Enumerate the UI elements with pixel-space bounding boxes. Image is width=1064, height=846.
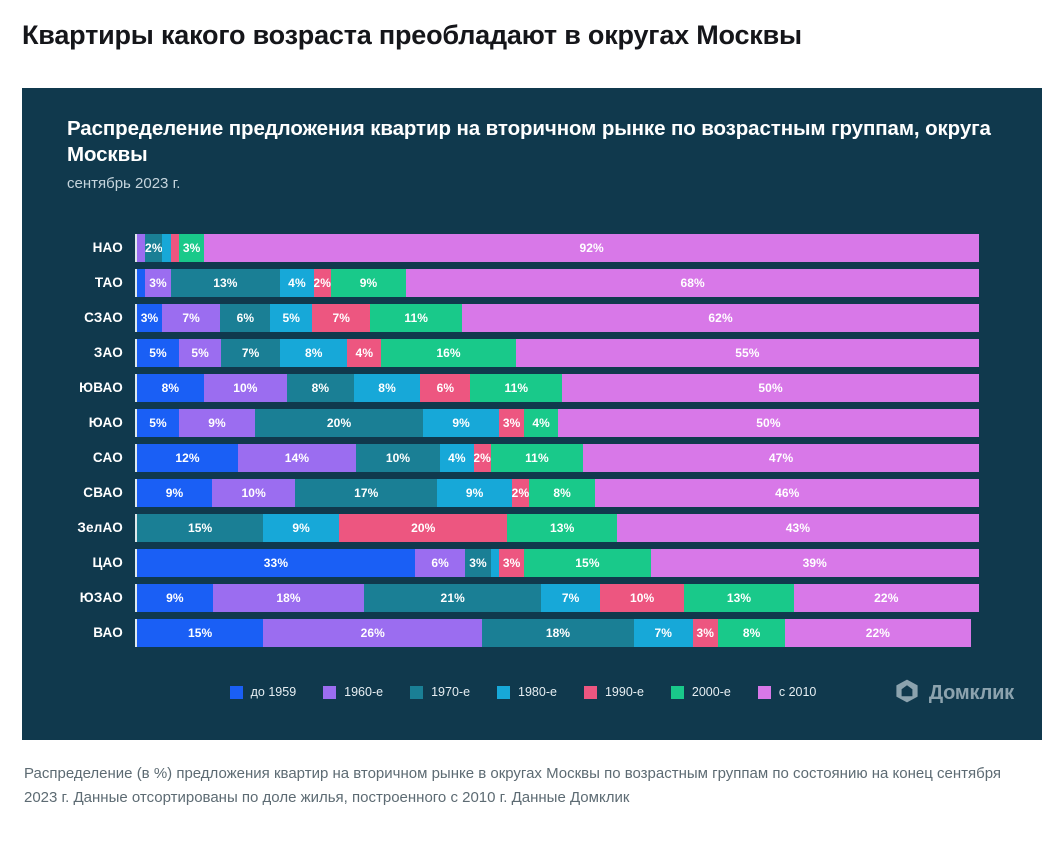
legend-swatch-icon: [497, 686, 510, 699]
bar-segment: 5%: [137, 409, 179, 437]
bar-segment: 3%: [179, 234, 204, 262]
bar-segment: 2%: [512, 479, 529, 507]
bar-segment: 9%: [263, 514, 339, 542]
bar-segment: 18%: [213, 584, 365, 612]
stacked-bar-plot: НАО2%3%92%ТАО3%13%4%2%9%68%СЗАО3%7%6%5%7…: [67, 230, 979, 650]
page-title: Квартиры какого возраста преобладают в о…: [0, 0, 1064, 51]
bar-segment: 7%: [221, 339, 280, 367]
infographic-page: Квартиры какого возраста преобладают в о…: [0, 0, 1064, 846]
bar-segment: 14%: [238, 444, 356, 472]
legend-swatch-icon: [758, 686, 771, 699]
bar-segment: 4%: [280, 269, 314, 297]
legend-swatch-icon: [323, 686, 336, 699]
bar-segment: 47%: [583, 444, 979, 472]
bar-segment: 8%: [287, 374, 354, 402]
bar-segment: 15%: [137, 619, 263, 647]
bar-row-label: НАО: [67, 240, 135, 255]
bar-row: ЗелАО15%9%20%13%43%: [67, 510, 979, 545]
chart-panel: Распределение предложения квартир на вто…: [22, 88, 1042, 740]
bar-row: ЦАО33%6%3%3%15%39%: [67, 545, 979, 580]
bar-segment: 2%: [145, 234, 162, 262]
bar-segment: 11%: [370, 304, 462, 332]
stacked-bar: 15%9%20%13%43%: [135, 514, 979, 542]
bar-segment: 4%: [347, 339, 381, 367]
bar-row-label: ЗелАО: [67, 520, 135, 535]
bar-row-label: ЗАО: [67, 345, 135, 360]
bar-segment: 55%: [516, 339, 979, 367]
bar-segment: 8%: [280, 339, 347, 367]
legend-item[interactable]: до 1959: [230, 685, 297, 699]
stacked-bar: 5%9%20%9%3%4%50%: [135, 409, 979, 437]
bar-segment: 16%: [381, 339, 516, 367]
bar-row-label: СВАО: [67, 485, 135, 500]
bar-row-label: ТАО: [67, 275, 135, 290]
bar-row: ЮЗАО9%18%21%7%10%13%22%: [67, 580, 979, 615]
bar-segment: 9%: [437, 479, 512, 507]
bar-row-label: ВАО: [67, 625, 135, 640]
legend-item[interactable]: 1970-е: [410, 685, 470, 699]
stacked-bar: 8%10%8%8%6%11%50%: [135, 374, 979, 402]
stacked-bar: 12%14%10%4%2%11%47%: [135, 444, 979, 472]
bar-segment: 13%: [171, 269, 280, 297]
legend-label: 2000-е: [692, 685, 731, 699]
bar-segment: 33%: [137, 549, 415, 577]
bar-segment: 3%: [137, 304, 162, 332]
brand-watermark: Домклик: [894, 678, 1014, 709]
bar-row: ЮВАО8%10%8%8%6%11%50%: [67, 370, 979, 405]
bar-row-label: ЮВАО: [67, 380, 135, 395]
legend-item[interactable]: с 2010: [758, 685, 817, 699]
bar-segment: 3%: [499, 409, 524, 437]
bar-segment: 6%: [220, 304, 270, 332]
bar-row: СЗАО3%7%6%5%7%11%62%: [67, 300, 979, 335]
bar-segment: 68%: [406, 269, 979, 297]
bar-row-label: СЗАО: [67, 310, 135, 325]
legend-label: 1990-е: [605, 685, 644, 699]
bar-segment: 2%: [474, 444, 491, 472]
stacked-bar: 2%3%92%: [135, 234, 979, 262]
bar-segment: [171, 234, 179, 262]
bar-segment: 92%: [204, 234, 979, 262]
legend-swatch-icon: [671, 686, 684, 699]
bar-segment: 7%: [312, 304, 370, 332]
bar-segment: 22%: [785, 619, 970, 647]
bar-segment: 4%: [524, 409, 558, 437]
bar-row-label: ЮАО: [67, 415, 135, 430]
bar-segment: 26%: [263, 619, 482, 647]
legend-item[interactable]: 1960-е: [323, 685, 383, 699]
bar-segment: 10%: [356, 444, 440, 472]
bar-segment: 9%: [423, 409, 499, 437]
bar-segment: 20%: [255, 409, 423, 437]
domclick-house-logo-icon: [894, 678, 920, 709]
bar-segment: 8%: [718, 619, 785, 647]
bar-segment: 9%: [137, 584, 213, 612]
bar-segment: 7%: [541, 584, 600, 612]
bar-segment: 8%: [354, 374, 421, 402]
bar-segment: 11%: [470, 374, 562, 402]
legend-label: 1970-е: [431, 685, 470, 699]
legend-swatch-icon: [410, 686, 423, 699]
bar-segment: 46%: [595, 479, 979, 507]
bar-segment: 18%: [482, 619, 634, 647]
bar-segment: 12%: [137, 444, 238, 472]
legend-label: до 1959: [251, 685, 297, 699]
bar-segment: 8%: [137, 374, 204, 402]
stacked-bar: 3%13%4%2%9%68%: [135, 269, 979, 297]
legend-label: с 2010: [779, 685, 817, 699]
bar-segment: 5%: [179, 339, 221, 367]
legend-label: 1960-е: [344, 685, 383, 699]
bar-segment: 39%: [651, 549, 979, 577]
bar-segment: 6%: [420, 374, 470, 402]
legend-label: 1980-е: [518, 685, 557, 699]
bar-row: САО12%14%10%4%2%11%47%: [67, 440, 979, 475]
bar-segment: 3%: [145, 269, 170, 297]
bar-segment: 2%: [314, 269, 331, 297]
bar-segment: 6%: [415, 549, 466, 577]
bar-segment: 5%: [137, 339, 179, 367]
bar-segment: 7%: [634, 619, 693, 647]
bar-segment: 20%: [339, 514, 507, 542]
bar-segment: [162, 234, 170, 262]
bar-row: ЮАО5%9%20%9%3%4%50%: [67, 405, 979, 440]
bar-segment: 43%: [617, 514, 979, 542]
bar-segment: 62%: [462, 304, 979, 332]
stacked-bar: 9%10%17%9%2%8%46%: [135, 479, 979, 507]
bar-segment: 50%: [562, 374, 979, 402]
chart-title: Распределение предложения квартир на вто…: [22, 88, 1042, 168]
bar-row: СВАО9%10%17%9%2%8%46%: [67, 475, 979, 510]
legend-item[interactable]: 1990-е: [584, 685, 644, 699]
bar-segment: 17%: [295, 479, 437, 507]
legend-swatch-icon: [584, 686, 597, 699]
bar-segment: 9%: [331, 269, 407, 297]
bar-segment: 10%: [204, 374, 287, 402]
bar-row-label: САО: [67, 450, 135, 465]
bar-segment: 21%: [364, 584, 541, 612]
bar-segment: 50%: [558, 409, 979, 437]
bar-row: ВАО15%26%18%7%3%8%22%: [67, 615, 979, 650]
bar-segment: [137, 269, 145, 297]
bar-segment: 11%: [491, 444, 584, 472]
bar-row: ТАО3%13%4%2%9%68%: [67, 265, 979, 300]
bar-row-label: ЦАО: [67, 555, 135, 570]
bar-segment: 5%: [270, 304, 312, 332]
bar-segment: 8%: [529, 479, 596, 507]
bar-segment: 10%: [212, 479, 295, 507]
legend-item[interactable]: 2000-е: [671, 685, 731, 699]
stacked-bar: 9%18%21%7%10%13%22%: [135, 584, 979, 612]
bar-segment: 13%: [684, 584, 793, 612]
legend-swatch-icon: [230, 686, 243, 699]
bar-row-label: ЮЗАО: [67, 590, 135, 605]
legend-item[interactable]: 1980-е: [497, 685, 557, 699]
bar-row: ЗАО5%5%7%8%4%16%55%: [67, 335, 979, 370]
chart-caption: Распределение (в %) предложения квартир …: [24, 762, 1034, 811]
stacked-bar: 5%5%7%8%4%16%55%: [135, 339, 979, 367]
bar-segment: [491, 549, 499, 577]
stacked-bar: 33%6%3%3%15%39%: [135, 549, 979, 577]
bar-segment: 15%: [137, 514, 263, 542]
bar-segment: 22%: [794, 584, 979, 612]
bar-row: НАО2%3%92%: [67, 230, 979, 265]
bar-segment: 3%: [693, 619, 718, 647]
bar-segment: 13%: [507, 514, 616, 542]
bar-segment: 7%: [162, 304, 220, 332]
bar-segment: 3%: [499, 549, 524, 577]
chart-legend: до 19591960-е1970-е1980-е1990-е2000-ес 2…: [67, 685, 979, 699]
chart-subtitle: сентябрь 2023 г.: [22, 168, 1042, 192]
bar-segment: 9%: [179, 409, 255, 437]
bar-segment: 9%: [137, 479, 212, 507]
bar-segment: 4%: [440, 444, 474, 472]
stacked-bar: 3%7%6%5%7%11%62%: [135, 304, 979, 332]
bar-segment: 15%: [524, 549, 650, 577]
bar-segment: 10%: [600, 584, 684, 612]
bar-segment: [137, 234, 145, 262]
brand-name: Домклик: [929, 682, 1014, 705]
stacked-bar: 15%26%18%7%3%8%22%: [135, 619, 979, 647]
bar-segment: 3%: [465, 549, 490, 577]
